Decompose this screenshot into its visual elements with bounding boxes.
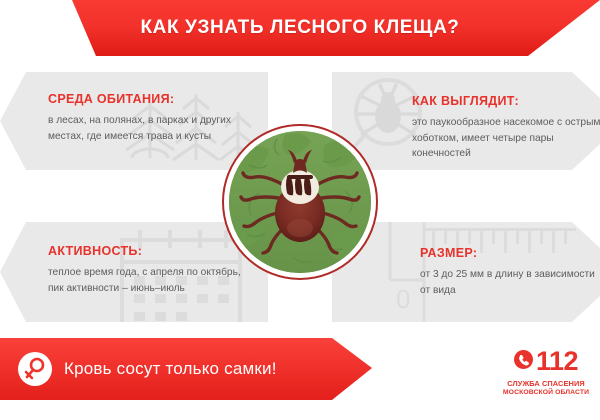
panel-appearance-content: КАК ВЫГЛЯДИТ: это паукообразное насекомо… [412, 94, 600, 162]
logo-112: 112 СЛУЖБА СПАСЕНИЯ МОСКОВСКОЙ ОБЛАСТИ [496, 348, 596, 396]
panel-appearance-body: это паукообразное насекомое с острым хоб… [412, 115, 600, 162]
logo-112-line2: МОСКОВСКОЙ ОБЛАСТИ [496, 389, 596, 396]
female-venus-symbol-icon [18, 352, 52, 386]
panel-habitat-body: в лесах, на полянах, в парках и других м… [48, 113, 244, 144]
infographic-root: КАК УЗНАТЬ ЛЕСНОГО КЛЕЩА? [0, 0, 600, 420]
tick-on-green-circle [229, 131, 371, 273]
logo-112-number: 112 [536, 348, 578, 375]
logo-112-row: 112 [496, 348, 596, 375]
bottom-banner-text: Кровь сосут только самки! [64, 352, 277, 386]
svg-text:0: 0 [396, 284, 410, 314]
center-illustration [222, 124, 378, 280]
panel-size-heading: РАЗМЕР: [420, 246, 600, 260]
panel-habitat-heading: СРЕДА ОБИТАНИЯ: [48, 92, 244, 106]
panel-habitat-content: СРЕДА ОБИТАНИЯ: в лесах, на полянах, в п… [48, 92, 244, 144]
panel-appearance-heading: КАК ВЫГЛЯДИТ: [412, 94, 600, 108]
panel-activity-content: АКТИВНОСТЬ: теплое время года, с апреля … [48, 244, 244, 296]
logo-112-line1: СЛУЖБА СПАСЕНИЯ [496, 379, 596, 388]
page-title: КАК УЗНАТЬ ЛЕСНОГО КЛЕЩА? [0, 0, 600, 56]
panel-size-content: РАЗМЕР: от 3 до 25 мм в длину в зависимо… [420, 246, 600, 298]
panel-activity-body: теплое время года, с апреля по октябрь, … [48, 265, 244, 296]
phone-handset-icon [514, 350, 533, 374]
panel-size-body: от 3 до 25 мм в длину в зависимости от в… [420, 267, 600, 298]
panel-activity-heading: АКТИВНОСТЬ: [48, 244, 244, 258]
